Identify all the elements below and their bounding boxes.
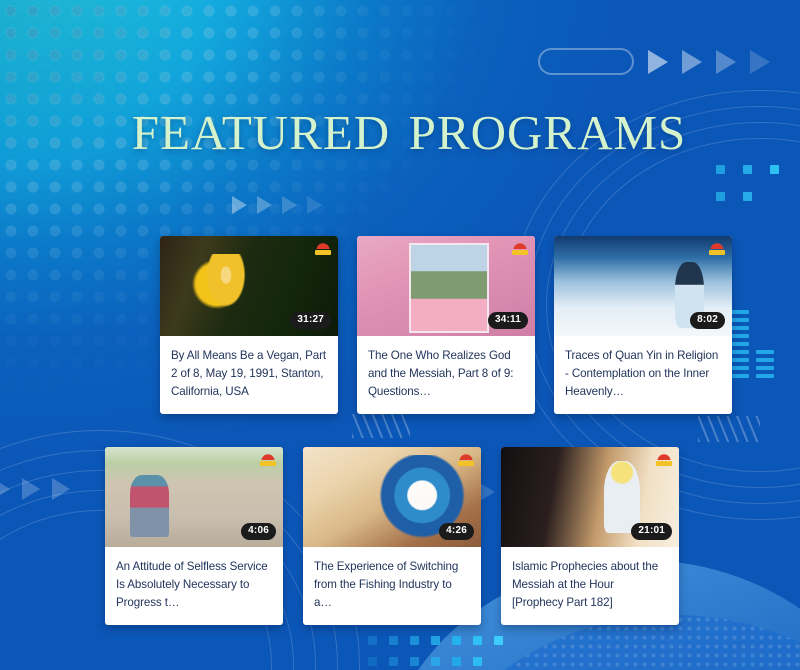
program-card[interactable]: 4:26 The Experience of Switching from th… <box>303 447 481 625</box>
pill-outline-decor <box>538 48 634 75</box>
play-triangle-icon <box>22 478 40 500</box>
duration-badge: 4:06 <box>241 523 276 540</box>
program-card[interactable]: 34:11 The One Who Realizes God and the M… <box>357 236 535 414</box>
arrow-row-top-right <box>648 50 770 74</box>
play-triangle-icon <box>52 478 70 500</box>
duration-badge: 21:01 <box>631 523 672 540</box>
program-thumbnail[interactable]: 34:11 <box>357 236 535 336</box>
program-thumbnail[interactable]: 8:02 <box>554 236 732 336</box>
duration-badge: 4:26 <box>439 523 474 540</box>
program-card[interactable]: 4:06 An Attitude of Selfless Service Is … <box>105 447 283 625</box>
page-title: Featured Programs <box>0 92 800 162</box>
play-triangle-icon <box>682 50 702 74</box>
program-card[interactable]: 21:01 Islamic Prophecies about the Messi… <box>501 447 679 625</box>
supreme-master-tv-logo-icon <box>510 240 530 255</box>
program-title[interactable]: Traces of Quan Yin in Religion - Contemp… <box>554 336 732 414</box>
duration-badge: 8:02 <box>690 312 725 329</box>
square-dot-grid-right <box>716 165 779 201</box>
play-triangle-icon <box>648 50 668 74</box>
program-title[interactable]: By All Means Be a Vegan, Part 2 of 8, Ma… <box>160 336 338 414</box>
equalizer-column <box>756 350 774 378</box>
duration-badge: 31:27 <box>290 312 331 329</box>
featured-row-2: 4:06 An Attitude of Selfless Service Is … <box>105 447 679 625</box>
program-thumbnail[interactable]: 21:01 <box>501 447 679 547</box>
play-triangle-icon <box>232 196 247 214</box>
play-triangle-icon <box>307 196 322 214</box>
supreme-master-tv-logo-icon <box>654 451 674 466</box>
arrow-row-bottom-left <box>0 478 70 500</box>
program-thumbnail[interactable]: 31:27 <box>160 236 338 336</box>
hatch-stripes-decor <box>352 414 410 438</box>
play-triangle-icon <box>282 196 297 214</box>
supreme-master-tv-logo-icon <box>456 451 476 466</box>
play-triangle-icon <box>0 478 10 500</box>
program-title[interactable]: An Attitude of Selfless Service Is Absol… <box>105 547 283 625</box>
program-card[interactable]: 31:27 By All Means Be a Vegan, Part 2 of… <box>160 236 338 414</box>
play-triangle-icon <box>750 50 770 74</box>
play-triangle-icon <box>716 50 736 74</box>
program-thumbnail[interactable]: 4:26 <box>303 447 481 547</box>
arrow-row-mid-left <box>232 196 322 214</box>
supreme-master-tv-logo-icon <box>258 451 278 466</box>
program-title[interactable]: The Experience of Switching from the Fis… <box>303 547 481 625</box>
supreme-master-tv-logo-icon <box>313 240 333 255</box>
featured-programs-banner: Featured Programs 31:27 By All Means Be … <box>0 0 800 670</box>
program-thumbnail[interactable]: 4:06 <box>105 447 283 547</box>
play-triangle-icon <box>257 196 272 214</box>
program-card[interactable]: 8:02 Traces of Quan Yin in Religion - Co… <box>554 236 732 414</box>
square-dot-grid-bottom <box>368 636 503 666</box>
supreme-master-tv-logo-icon <box>707 240 727 255</box>
equalizer-column <box>731 310 749 378</box>
hatch-stripes-decor <box>698 416 760 442</box>
duration-badge: 34:11 <box>488 312 528 329</box>
featured-row-1: 31:27 By All Means Be a Vegan, Part 2 of… <box>160 236 732 414</box>
program-title[interactable]: Islamic Prophecies about the Messiah at … <box>501 547 679 625</box>
program-title[interactable]: The One Who Realizes God and the Messiah… <box>357 336 535 414</box>
